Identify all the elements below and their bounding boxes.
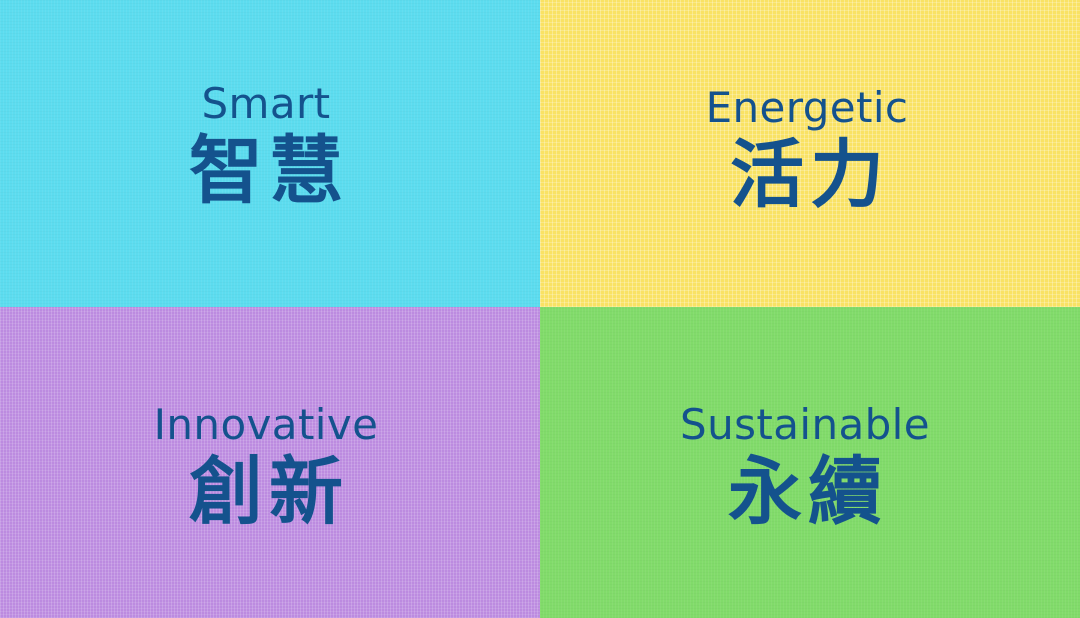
quadrant-energetic: Energetic 活力 [540, 0, 1080, 307]
label-block-sustainable: Sustainable 永續 [680, 403, 930, 534]
label-zh-energetic: 活力 [706, 134, 909, 217]
quadrant-sustainable: Sustainable 永續 [540, 307, 1080, 618]
brand-values-quadrant-canvas: Smart 智慧 Energetic 活力 Innovative 創新 Sust… [0, 0, 1080, 618]
label-en-innovative: Innovative [154, 403, 379, 448]
label-en-smart: Smart [183, 82, 349, 127]
label-zh-innovative: 創新 [154, 451, 379, 534]
label-zh-smart: 智慧 [183, 130, 349, 213]
quadrant-smart: Smart 智慧 [0, 0, 540, 307]
label-block-energetic: Energetic 活力 [706, 86, 909, 217]
quadrant-innovative: Innovative 創新 [0, 307, 540, 618]
label-block-innovative: Innovative 創新 [154, 403, 379, 534]
label-en-energetic: Energetic [706, 86, 909, 131]
label-en-sustainable: Sustainable [680, 403, 930, 448]
label-zh-sustainable: 永續 [680, 451, 930, 534]
label-block-smart: Smart 智慧 [183, 82, 349, 213]
